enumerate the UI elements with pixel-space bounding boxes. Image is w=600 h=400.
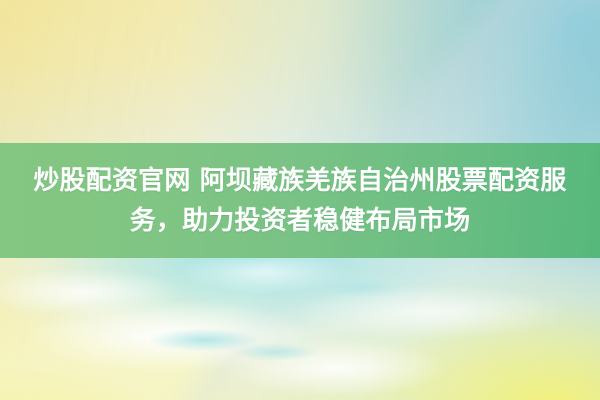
headline-text: 炒股配资官网 阿坝藏族羌族自治州股票配资服务，助力投资者稳健布局市场 bbox=[14, 161, 586, 241]
headline-ribbon: 炒股配资官网 阿坝藏族羌族自治州股票配资服务，助力投资者稳健布局市场 bbox=[0, 143, 600, 258]
banner-canvas: 炒股配资官网 阿坝藏族羌族自治州股票配资服务，助力投资者稳健布局市场 bbox=[0, 0, 600, 400]
